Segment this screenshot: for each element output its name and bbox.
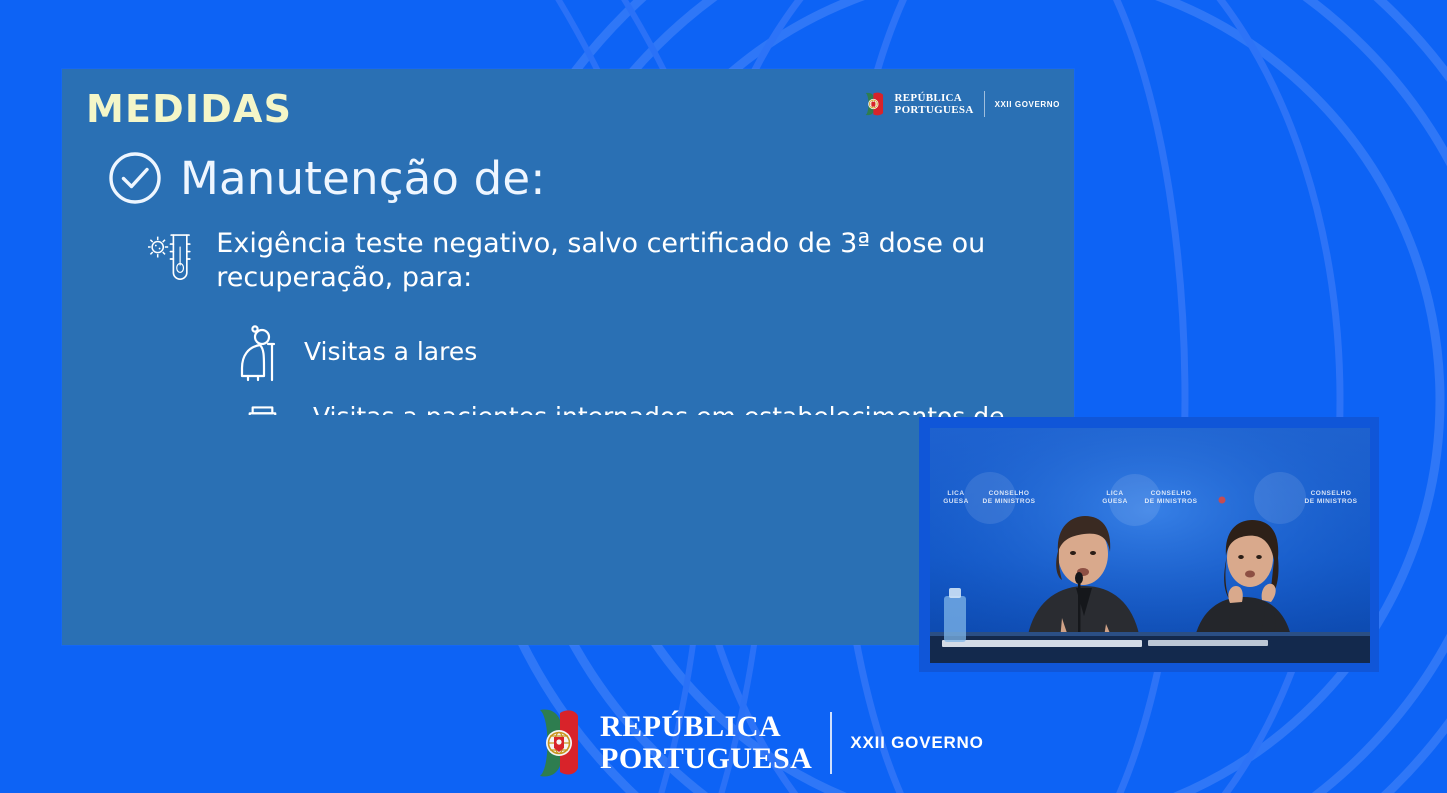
sub-item-visits-nursing-homes-text: Visitas a lares xyxy=(304,324,477,369)
bottom-logo-line2: PORTUGUESA xyxy=(600,743,812,775)
elderly-person-icon xyxy=(234,324,282,386)
backdrop-label: LICAGUESA xyxy=(934,490,978,506)
bottom-logo-divider xyxy=(830,712,832,774)
backdrop-label: LICAGUESA xyxy=(1093,490,1137,506)
backdrop-label: CONSELHODE MINISTROS xyxy=(1140,490,1202,506)
bottom-logo-line1: REPÚBLICA xyxy=(600,711,812,743)
bullet-test-requirement: Exigência teste negativo, salvo certific… xyxy=(148,221,988,297)
backdrop-label: CONSELHODE MINISTROS xyxy=(1300,490,1362,506)
backdrop-label: CONSELHODE MINISTROS xyxy=(978,490,1040,506)
check-circle-icon xyxy=(106,149,164,207)
bullet-test-requirement-text: Exigência teste negativo, salvo certific… xyxy=(216,221,988,295)
video-inset[interactable]: LICAGUESA CONSELHODE MINISTROS LICAGUESA… xyxy=(919,417,1379,672)
panel-republic-logo: REPÚBLICA PORTUGUESA XXII GOVERNO xyxy=(863,91,1060,117)
video-scene xyxy=(930,428,1370,663)
panel-logo-divider xyxy=(984,91,985,117)
panel-logo-government: XXII GOVERNO xyxy=(995,100,1060,109)
panel-logo-text: REPÚBLICA PORTUGUESA xyxy=(895,92,974,117)
panel-logo-line1: REPÚBLICA xyxy=(895,92,974,104)
video-frame[interactable]: LICAGUESA CONSELHODE MINISTROS LICAGUESA… xyxy=(930,428,1370,663)
sub-item-visits-nursing-homes: Visitas a lares xyxy=(234,324,477,386)
slide-panel-lower-extension xyxy=(62,415,919,645)
panel-logo-line2: PORTUGUESA xyxy=(895,104,974,116)
headline-row: Manutenção de: xyxy=(106,149,546,207)
bottom-republic-logo: REPÚBLICA PORTUGUESA XXII GOVERNO xyxy=(534,706,984,780)
bottom-logo-government: XXII GOVERNO xyxy=(850,733,983,753)
page-title: MEDIDAS xyxy=(86,87,292,131)
bottom-logo-text: REPÚBLICA PORTUGUESA xyxy=(600,711,812,775)
portugal-shield-icon xyxy=(534,706,582,780)
headline-text: Manutenção de: xyxy=(180,152,546,205)
test-tube-virus-icon xyxy=(148,221,194,297)
portugal-shield-icon xyxy=(863,91,885,117)
